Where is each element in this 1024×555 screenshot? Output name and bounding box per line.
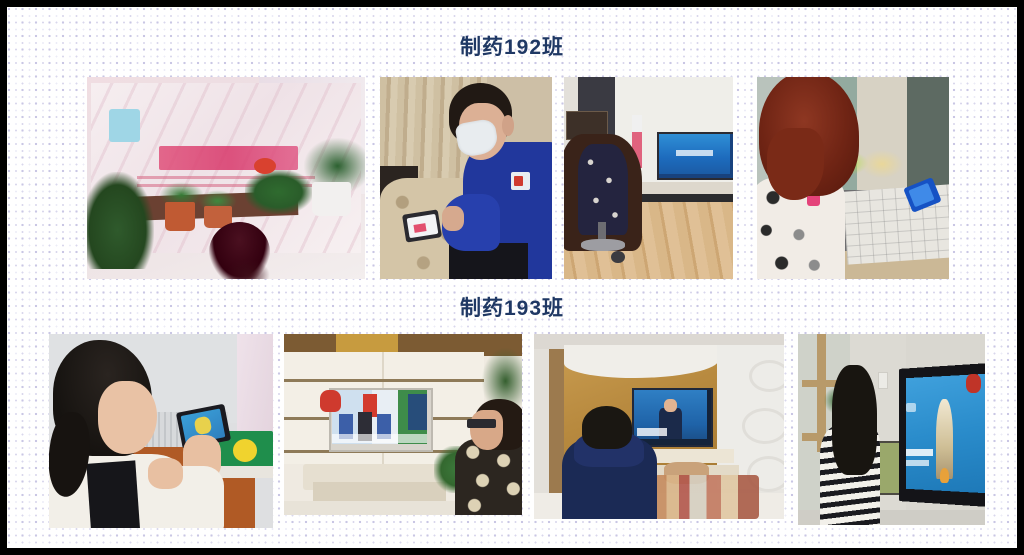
photo-thumbnail[interactable] xyxy=(757,77,949,279)
photo-4-scene xyxy=(757,77,949,279)
photo-1-scene xyxy=(87,77,365,279)
photo-thumbnail[interactable] xyxy=(87,77,365,279)
photo-2-scene xyxy=(380,77,552,279)
photo-thumbnail[interactable] xyxy=(534,334,784,519)
photo-8-scene xyxy=(798,334,985,525)
photo-thumbnail[interactable] xyxy=(564,77,733,279)
photo-6-scene xyxy=(284,334,522,515)
photo-7-scene xyxy=(534,334,784,519)
photo-thumbnail[interactable] xyxy=(380,77,552,279)
section-title-2: 制药193班 xyxy=(7,292,1017,322)
slide-canvas: 制药192班 xyxy=(7,7,1017,548)
photo-thumbnail[interactable] xyxy=(284,334,522,515)
photo-3-scene xyxy=(564,77,733,279)
photo-thumbnail[interactable] xyxy=(798,334,985,525)
photo-5-scene xyxy=(49,334,273,528)
photo-thumbnail[interactable] xyxy=(49,334,273,528)
section-title-1: 制药192班 xyxy=(7,31,1017,61)
